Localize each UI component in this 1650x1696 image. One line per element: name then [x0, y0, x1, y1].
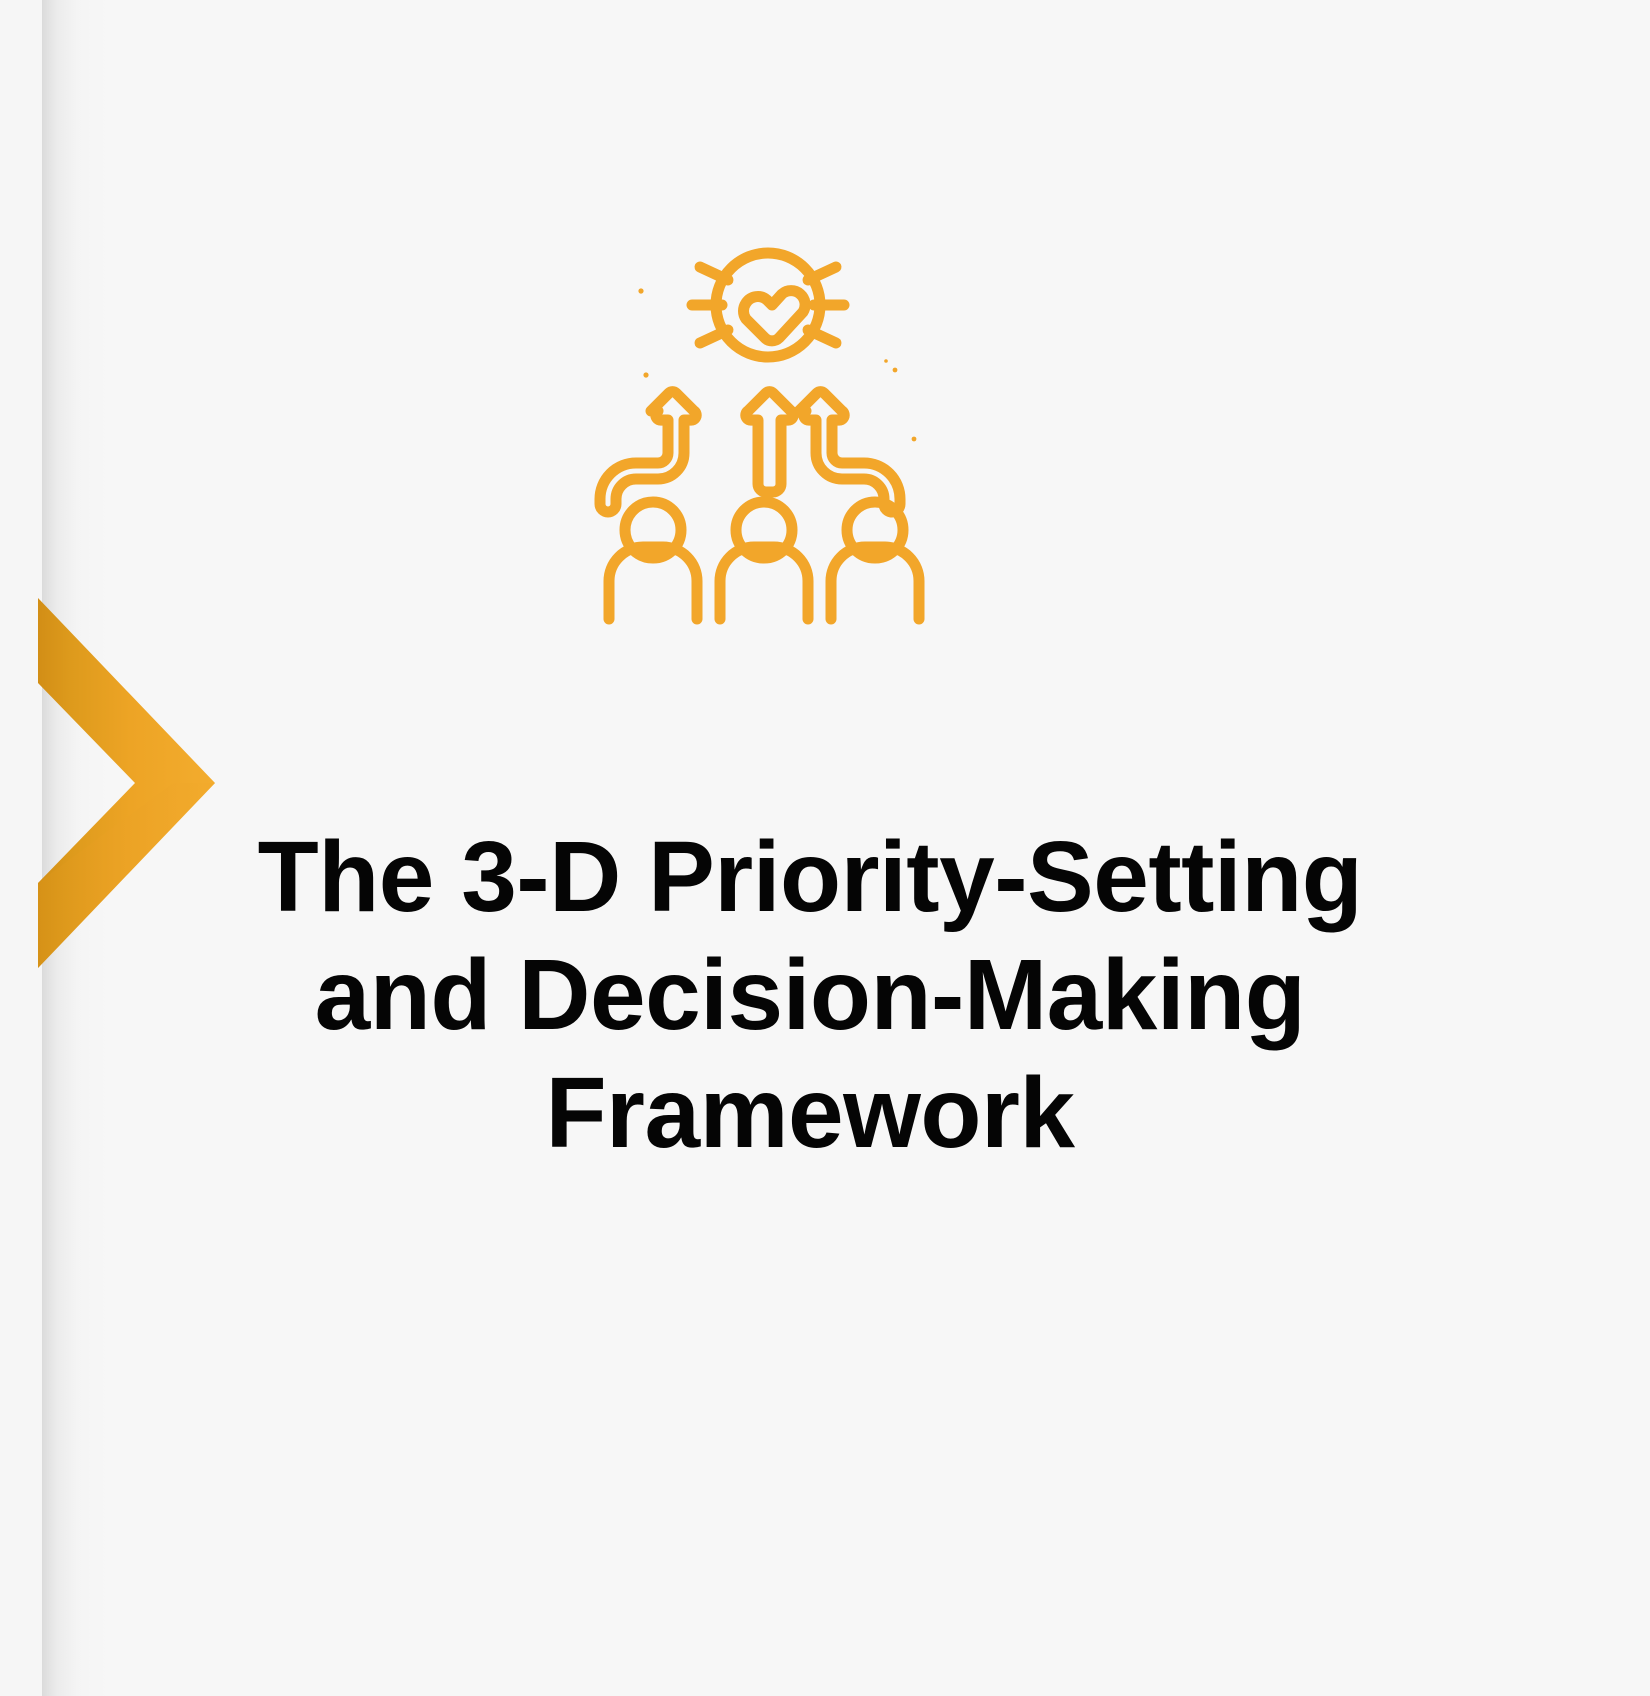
three-people-icon: [609, 502, 919, 619]
three-up-arrows-icon: [600, 392, 900, 512]
slide-canvas: The 3-D Priority-Setting and Decision-Ma…: [0, 0, 1650, 1696]
team-goal-arrows-icon: [596, 243, 932, 619]
left-edge-strip: [0, 0, 43, 1696]
page-title-block: The 3-D Priority-Setting and Decision-Ma…: [185, 818, 1435, 1172]
page-title: The 3-D Priority-Setting and Decision-Ma…: [185, 818, 1435, 1172]
badge-circle-check-icon: [716, 253, 820, 357]
